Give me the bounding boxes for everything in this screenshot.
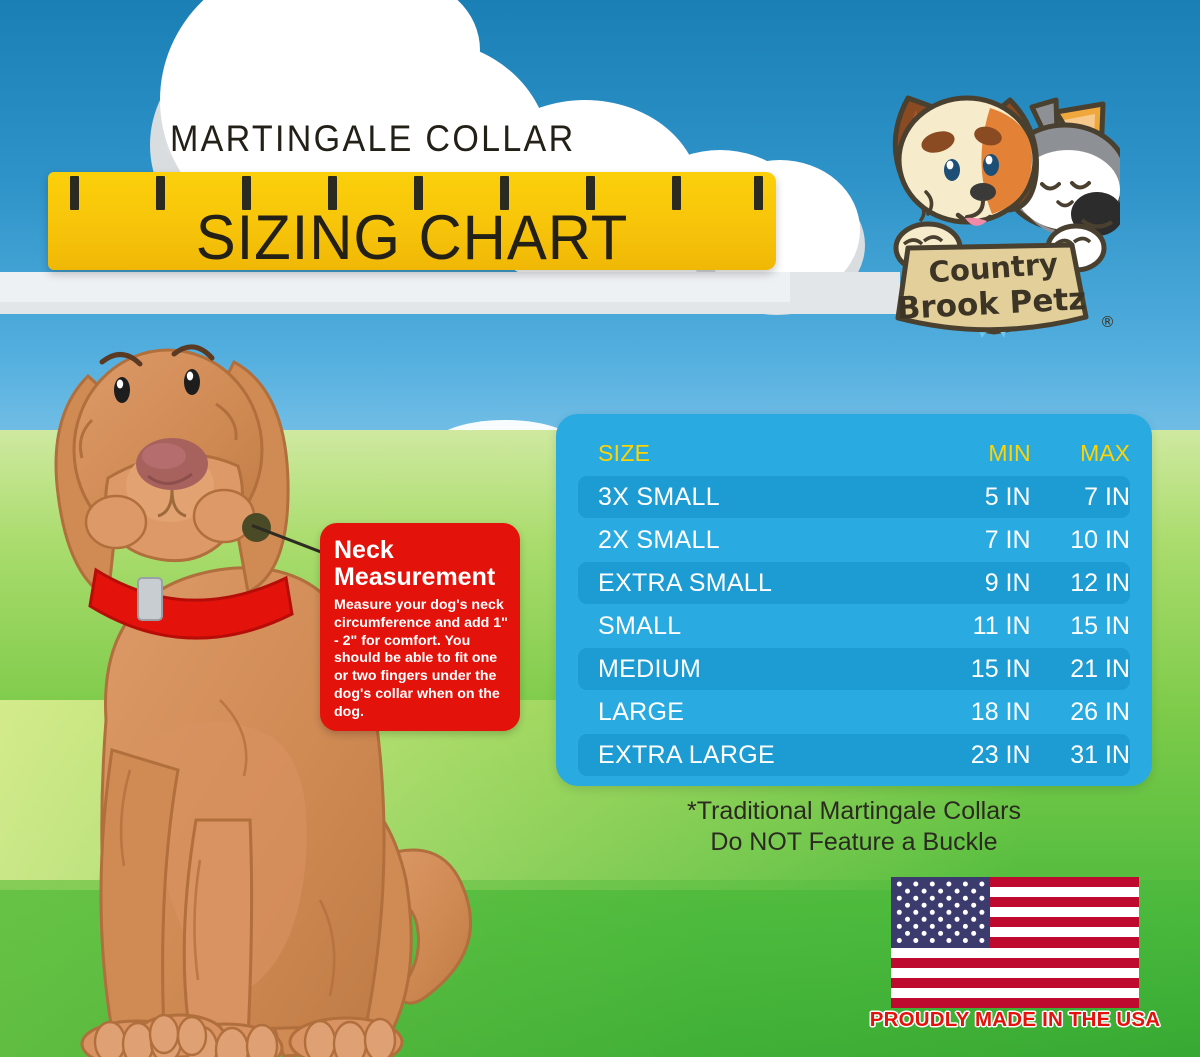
table-row: MEDIUM 15 IN 21 IN (578, 648, 1130, 690)
footnote-line-2: Do NOT Feature a Buckle (556, 827, 1152, 858)
cell-max: 7 IN (1031, 483, 1130, 512)
column-header-min: MIN (916, 440, 1030, 467)
made-in-usa-label: PROUDLY MADE IN THE USA (845, 1008, 1185, 1032)
footnote-line-1: *Traditional Martingale Collars (556, 796, 1152, 827)
table-row: EXTRA LARGE 23 IN 31 IN (578, 734, 1130, 776)
table-header-row: SIZE MIN MAX (578, 432, 1130, 474)
cell-size: 3X SMALL (578, 483, 916, 512)
cell-max: 10 IN (1031, 526, 1130, 555)
cell-size: EXTRA LARGE (578, 741, 916, 770)
cell-min: 11 IN (916, 612, 1030, 641)
cell-size: EXTRA SMALL (578, 569, 916, 598)
sizing-table: SIZE MIN MAX 3X SMALL 5 IN 7 IN 2X SMALL… (556, 414, 1152, 786)
cell-min: 7 IN (916, 526, 1030, 555)
cell-min: 9 IN (916, 569, 1030, 598)
brand-logo[interactable]: Country Brook Petz ® (860, 52, 1120, 342)
cell-min: 18 IN (916, 698, 1030, 727)
cell-size: MEDIUM (578, 655, 916, 684)
callout-heading: Neck Measurement (320, 523, 520, 590)
table-row: LARGE 18 IN 26 IN (578, 691, 1130, 733)
collar-buckle (138, 578, 162, 620)
cell-max: 15 IN (1031, 612, 1130, 641)
table-row: 2X SMALL 7 IN 10 IN (578, 519, 1130, 561)
table-row: 3X SMALL 5 IN 7 IN (578, 476, 1130, 518)
table-row: SMALL 11 IN 15 IN (578, 605, 1130, 647)
page-subtitle: MARTINGALE COLLAR (170, 118, 575, 160)
title-ruler-banner: SIZING CHART (48, 172, 776, 270)
cell-size: SMALL (578, 612, 916, 641)
column-header-max: MAX (1031, 440, 1130, 467)
cell-max: 26 IN (1031, 698, 1130, 727)
cell-min: 23 IN (916, 741, 1030, 770)
cell-max: 12 IN (1031, 569, 1130, 598)
callout-heading-line-1: Neck (334, 536, 394, 564)
us-flag-badge (891, 877, 1139, 1008)
page-title: SIZING CHART (66, 202, 758, 274)
table-row: EXTRA SMALL 9 IN 12 IN (578, 562, 1130, 604)
cell-min: 15 IN (916, 655, 1030, 684)
us-flag-icon (891, 877, 1139, 1008)
callout-body: Measure your dog's neck circumference an… (320, 590, 520, 721)
cell-max: 31 IN (1031, 741, 1130, 770)
sizing-chart-infographic: MARTINGALE COLLAR SIZING CHART (0, 0, 1200, 1057)
neck-measurement-callout: Neck Measurement Measure your dog's neck… (320, 523, 520, 731)
callout-heading-line-2: Measurement (334, 563, 495, 591)
table-footnote: *Traditional Martingale Collars Do NOT F… (556, 796, 1152, 857)
column-header-size: SIZE (578, 440, 916, 467)
cell-max: 21 IN (1031, 655, 1130, 684)
cell-size: LARGE (578, 698, 916, 727)
cell-min: 5 IN (916, 483, 1030, 512)
cell-size: 2X SMALL (578, 526, 916, 555)
dog-head (56, 347, 288, 598)
flag-canton (891, 877, 990, 948)
dog-illustration (895, 98, 1036, 226)
registered-trademark-mark: ® (1100, 313, 1115, 331)
